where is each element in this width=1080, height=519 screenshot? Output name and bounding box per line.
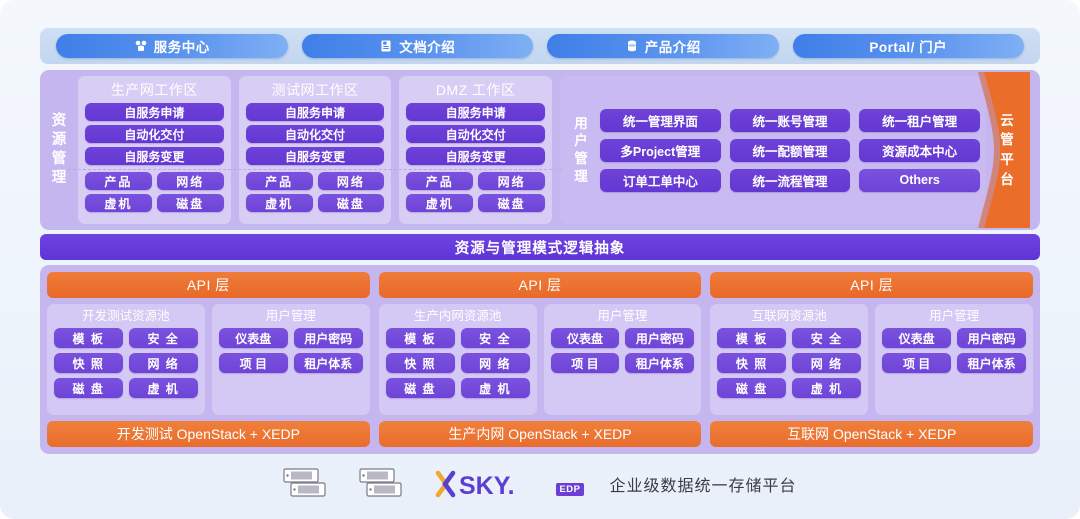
user-management-label: 用 户 管 理 bbox=[566, 115, 596, 185]
workzone-action[interactable]: 自服务变更 bbox=[406, 147, 545, 165]
resource-pool-box: 开发测试资源池 模 板 安 全 快 照 网 络 磁 盘 虚 机 bbox=[47, 304, 205, 415]
pool-um-grid: 仪表盘 用户密码 项 目 租户体系 bbox=[551, 328, 695, 373]
architecture-diagram: 服务中心 文档介绍 产品介绍 bbox=[0, 0, 1080, 519]
pool-um-item[interactable]: 租户体系 bbox=[957, 353, 1026, 373]
user-management-block: 用 户 管 理 统一管理界面 统一账号管理 统一租户管理 多Project管理 … bbox=[560, 76, 986, 224]
workzone-action[interactable]: 自服务变更 bbox=[246, 147, 385, 165]
cloud-platform-label: 云 管 平 台 bbox=[978, 72, 1030, 228]
api-layer-bar: API 层 bbox=[47, 272, 370, 298]
workzone-resource[interactable]: 磁盘 bbox=[318, 194, 385, 212]
user-management-item[interactable]: 统一账号管理 bbox=[730, 109, 851, 132]
user-management-item[interactable]: Others bbox=[859, 169, 980, 192]
header-button-portal[interactable]: Portal/ 门户 bbox=[793, 34, 1025, 58]
pool-item[interactable]: 虚 机 bbox=[461, 378, 530, 398]
pool-item[interactable]: 网 络 bbox=[792, 353, 861, 373]
um-label-char: 户 bbox=[574, 132, 588, 150]
header-button-service-center[interactable]: 服务中心 bbox=[56, 34, 288, 58]
header-button-label: 产品介绍 bbox=[645, 36, 701, 56]
pool-user-management-box: 用户管理 仪表盘 用户密码 项 目 租户体系 bbox=[875, 304, 1033, 415]
workzone-resource-grid: 产品 网络 虚机 磁盘 bbox=[246, 172, 385, 212]
header-button-product-intro[interactable]: 产品介绍 bbox=[547, 34, 779, 58]
openstack-bar: 生产内网 OpenStack + XEDP bbox=[379, 421, 702, 447]
user-management-item[interactable]: 多Project管理 bbox=[600, 139, 721, 162]
pool-item[interactable]: 磁 盘 bbox=[717, 378, 786, 398]
workzone-action[interactable]: 自动化交付 bbox=[406, 125, 545, 143]
pool-item[interactable]: 模 板 bbox=[386, 328, 455, 348]
pool-item[interactable]: 网 络 bbox=[461, 353, 530, 373]
workzone-action[interactable]: 自服务变更 bbox=[85, 147, 224, 165]
pool-column-dev-test: API 层 开发测试资源池 模 板 安 全 快 照 网 络 磁 盘 虚 机 用户… bbox=[47, 272, 370, 447]
footer-tagline: 企业级数据统一存储平台 bbox=[610, 472, 797, 496]
header-button-label: Portal/ 门户 bbox=[869, 36, 947, 56]
pool-item[interactable]: 磁 盘 bbox=[54, 378, 123, 398]
pool-um-item[interactable]: 项 目 bbox=[882, 353, 951, 373]
document-icon bbox=[379, 39, 393, 53]
footer: SKY. EDP 企业级数据统一存储平台 bbox=[40, 458, 1040, 510]
pool-um-item[interactable]: 用户密码 bbox=[957, 328, 1026, 348]
workzone-dmz: DMZ 工作区 自服务申请 自动化交付 自服务变更 产品 网络 虚机 磁盘 bbox=[399, 76, 552, 224]
pool-um-title: 用户管理 bbox=[219, 307, 363, 325]
pool-item[interactable]: 虚 机 bbox=[792, 378, 861, 398]
pool-item[interactable]: 模 板 bbox=[717, 328, 786, 348]
api-layer-bar: API 层 bbox=[710, 272, 1033, 298]
svg-text:SKY.: SKY. bbox=[459, 472, 515, 499]
pool-um-item[interactable]: 仪表盘 bbox=[882, 328, 951, 348]
pool-column-production-intranet: API 层 生产内网资源池 模 板 安 全 快 照 网 络 磁 盘 虚 机 用户… bbox=[379, 272, 702, 447]
pool-item-grid: 模 板 安 全 快 照 网 络 磁 盘 虚 机 bbox=[54, 328, 198, 398]
ribbon-char: 平 bbox=[1000, 150, 1014, 170]
workzone-title: 测试网工作区 bbox=[246, 80, 385, 100]
user-management-item[interactable]: 统一流程管理 bbox=[730, 169, 851, 192]
header-button-document-intro[interactable]: 文档介绍 bbox=[302, 34, 534, 58]
ribbon-char: 管 bbox=[1000, 130, 1014, 150]
workzone-resource[interactable]: 产品 bbox=[85, 172, 152, 190]
workzone-resource[interactable]: 虚机 bbox=[406, 194, 473, 212]
pool-um-grid: 仪表盘 用户密码 项 目 租户体系 bbox=[882, 328, 1026, 373]
pool-item[interactable]: 磁 盘 bbox=[386, 378, 455, 398]
pool-um-item[interactable]: 租户体系 bbox=[625, 353, 694, 373]
resource-pool-box: 生产内网资源池 模 板 安 全 快 照 网 络 磁 盘 虚 机 bbox=[379, 304, 537, 415]
edp-badge: EDP bbox=[556, 483, 583, 496]
user-management-item[interactable]: 统一租户管理 bbox=[859, 109, 980, 132]
pool-item[interactable]: 快 照 bbox=[717, 353, 786, 373]
workzone-action[interactable]: 自服务申请 bbox=[406, 103, 545, 121]
user-management-item[interactable]: 资源成本中心 bbox=[859, 139, 980, 162]
user-management-item[interactable]: 统一管理界面 bbox=[600, 109, 721, 132]
ribbon-char: 云 bbox=[1000, 111, 1014, 131]
pool-um-item[interactable]: 项 目 bbox=[551, 353, 620, 373]
user-management-grid: 统一管理界面 统一账号管理 统一租户管理 多Project管理 统一配额管理 资… bbox=[596, 109, 980, 192]
pool-title: 互联网资源池 bbox=[717, 307, 861, 325]
pool-um-grid: 仪表盘 用户密码 项 目 租户体系 bbox=[219, 328, 363, 373]
pool-column-internet: API 层 互联网资源池 模 板 安 全 快 照 网 络 磁 盘 虚 机 用户管… bbox=[710, 272, 1033, 447]
workzone-test: 测试网工作区 自服务申请 自动化交付 自服务变更 产品 网络 虚机 磁盘 bbox=[239, 76, 392, 224]
workzone-resource[interactable]: 网络 bbox=[478, 172, 545, 190]
side-label-char: 理 bbox=[52, 169, 67, 188]
workzone-title: DMZ 工作区 bbox=[406, 80, 545, 100]
pool-user-management-box: 用户管理 仪表盘 用户密码 项 目 租户体系 bbox=[212, 304, 370, 415]
workzone-resource-grid: 产品 网络 虚机 磁盘 bbox=[406, 172, 545, 212]
um-label-char: 管 bbox=[574, 150, 588, 168]
pool-user-management-box: 用户管理 仪表盘 用户密码 项 目 租户体系 bbox=[544, 304, 702, 415]
workzone-resource[interactable]: 磁盘 bbox=[478, 194, 545, 212]
pool-title: 生产内网资源池 bbox=[386, 307, 530, 325]
pool-item[interactable]: 网 络 bbox=[129, 353, 198, 373]
header-button-bar: 服务中心 文档介绍 产品介绍 bbox=[40, 28, 1040, 64]
pool-title: 开发测试资源池 bbox=[54, 307, 198, 325]
header-button-label: 服务中心 bbox=[154, 36, 210, 56]
xsky-wordmark-icon: SKY. bbox=[435, 469, 553, 499]
resource-management-panel: 资 源 管 理 生产网工作区 自服务申请 自动化交付 自服务变更 产品 网络 虚… bbox=[40, 70, 1040, 230]
header-button-label: 文档介绍 bbox=[399, 36, 455, 56]
service-cluster-icon bbox=[134, 39, 148, 53]
workzone-resource[interactable]: 产品 bbox=[406, 172, 473, 190]
workzone-resource[interactable]: 产品 bbox=[246, 172, 313, 190]
pool-um-item[interactable]: 仪表盘 bbox=[551, 328, 620, 348]
workzone-title: 生产网工作区 bbox=[85, 80, 224, 100]
pool-item-grid: 模 板 安 全 快 照 网 络 磁 盘 虚 机 bbox=[717, 328, 861, 398]
pool-um-item[interactable]: 项 目 bbox=[219, 353, 288, 373]
workzone-production: 生产网工作区 自服务申请 自动化交付 自服务变更 产品 网络 虚机 磁盘 bbox=[78, 76, 231, 224]
pool-item[interactable]: 安 全 bbox=[129, 328, 198, 348]
side-label-char: 资 bbox=[52, 112, 67, 131]
openstack-bar: 开发测试 OpenStack + XEDP bbox=[47, 421, 370, 447]
database-icon bbox=[625, 39, 639, 53]
workzone-resource-grid: 产品 网络 虚机 磁盘 bbox=[85, 172, 224, 212]
pool-um-item[interactable]: 用户密码 bbox=[294, 328, 363, 348]
abstraction-band: 资源与管理模式逻辑抽象 bbox=[40, 234, 1040, 260]
resource-pool-box: 互联网资源池 模 板 安 全 快 照 网 络 磁 盘 虚 机 bbox=[710, 304, 868, 415]
xsky-logo: SKY. EDP bbox=[435, 469, 583, 499]
user-management-item[interactable]: 统一配额管理 bbox=[730, 139, 851, 162]
pool-um-item[interactable]: 用户密码 bbox=[625, 328, 694, 348]
pool-item[interactable]: 快 照 bbox=[386, 353, 455, 373]
api-layer-bar: API 层 bbox=[379, 272, 702, 298]
pool-item[interactable]: 虚 机 bbox=[129, 378, 198, 398]
pool-item-grid: 模 板 安 全 快 照 网 络 磁 盘 虚 机 bbox=[386, 328, 530, 398]
server-stack-icon bbox=[359, 466, 417, 502]
side-label-char: 管 bbox=[52, 150, 67, 169]
pool-um-title: 用户管理 bbox=[551, 307, 695, 325]
workzone-resource[interactable]: 虚机 bbox=[85, 194, 152, 212]
pool-um-item[interactable]: 仪表盘 bbox=[219, 328, 288, 348]
um-label-char: 用 bbox=[574, 115, 588, 133]
cloud-platform-ribbon: 云 管 平 台 bbox=[978, 72, 1030, 228]
server-stack-icon bbox=[283, 466, 341, 502]
ribbon-char: 台 bbox=[1000, 170, 1014, 190]
resource-pool-panel: API 层 开发测试资源池 模 板 安 全 快 照 网 络 磁 盘 虚 机 用户… bbox=[40, 265, 1040, 454]
workzone-resource[interactable]: 网络 bbox=[157, 172, 224, 190]
pool-item[interactable]: 快 照 bbox=[54, 353, 123, 373]
workzone-action[interactable]: 自服务申请 bbox=[85, 103, 224, 121]
resource-management-label: 资 源 管 理 bbox=[40, 70, 78, 230]
pool-item[interactable]: 模 板 bbox=[54, 328, 123, 348]
workzone-action[interactable]: 自服务申请 bbox=[246, 103, 385, 121]
workzone-group: 生产网工作区 自服务申请 自动化交付 自服务变更 产品 网络 虚机 磁盘 测试网… bbox=[78, 76, 552, 224]
user-management-item[interactable]: 订单工单中心 bbox=[600, 169, 721, 192]
pool-item[interactable]: 安 全 bbox=[792, 328, 861, 348]
pool-um-item[interactable]: 租户体系 bbox=[294, 353, 363, 373]
pool-item[interactable]: 安 全 bbox=[461, 328, 530, 348]
pool-um-title: 用户管理 bbox=[882, 307, 1026, 325]
um-label-char: 理 bbox=[574, 168, 588, 186]
workzone-resource[interactable]: 磁盘 bbox=[157, 194, 224, 212]
workzone-resource[interactable]: 网络 bbox=[318, 172, 385, 190]
workzone-action[interactable]: 自动化交付 bbox=[85, 125, 224, 143]
openstack-bar: 互联网 OpenStack + XEDP bbox=[710, 421, 1033, 447]
workzone-action[interactable]: 自动化交付 bbox=[246, 125, 385, 143]
side-label-char: 源 bbox=[52, 131, 67, 150]
workzone-resource[interactable]: 虚机 bbox=[246, 194, 313, 212]
